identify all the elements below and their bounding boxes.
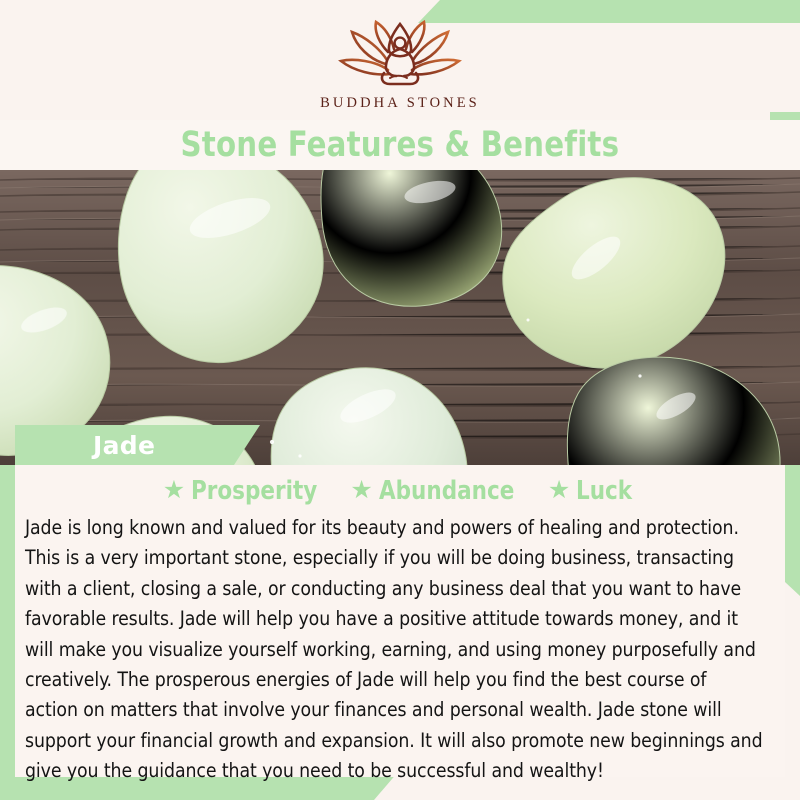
infographic-page: BUDDHA STONES Stone Features & Benefits bbox=[0, 0, 800, 800]
benefit-item-prosperity: ★ Prosperity bbox=[163, 478, 329, 504]
benefits-row: ★ Prosperity ★ Abundance ★ Luck bbox=[15, 465, 785, 509]
star-icon: ★ bbox=[350, 478, 372, 503]
stone-name-label: Jade bbox=[93, 431, 155, 460]
lotus-meditation-figure-icon bbox=[0, 18, 800, 93]
jade-stones-photo bbox=[0, 170, 800, 465]
benefit-item-luck: ★ Luck bbox=[548, 478, 637, 504]
star-icon: ★ bbox=[548, 478, 570, 503]
page-title: Stone Features & Benefits bbox=[181, 128, 620, 163]
stone-name-banner: Jade bbox=[15, 425, 260, 465]
star-icon: ★ bbox=[163, 478, 185, 503]
benefit-label: Abundance bbox=[379, 478, 514, 504]
stone-description: Jade is long known and valued for its be… bbox=[25, 513, 764, 787]
benefit-label: Prosperity bbox=[191, 478, 317, 504]
brand-name: BUDDHA STONES bbox=[0, 95, 800, 112]
content-card: ★ Prosperity ★ Abundance ★ Luck Jade is … bbox=[15, 465, 785, 777]
page-title-bar: Stone Features & Benefits bbox=[0, 120, 800, 170]
brand-header: BUDDHA STONES bbox=[0, 0, 800, 120]
brand-logo: BUDDHA STONES bbox=[0, 18, 800, 112]
benefit-item-abundance: ★ Abundance bbox=[350, 478, 526, 504]
benefit-label: Luck bbox=[576, 478, 632, 504]
